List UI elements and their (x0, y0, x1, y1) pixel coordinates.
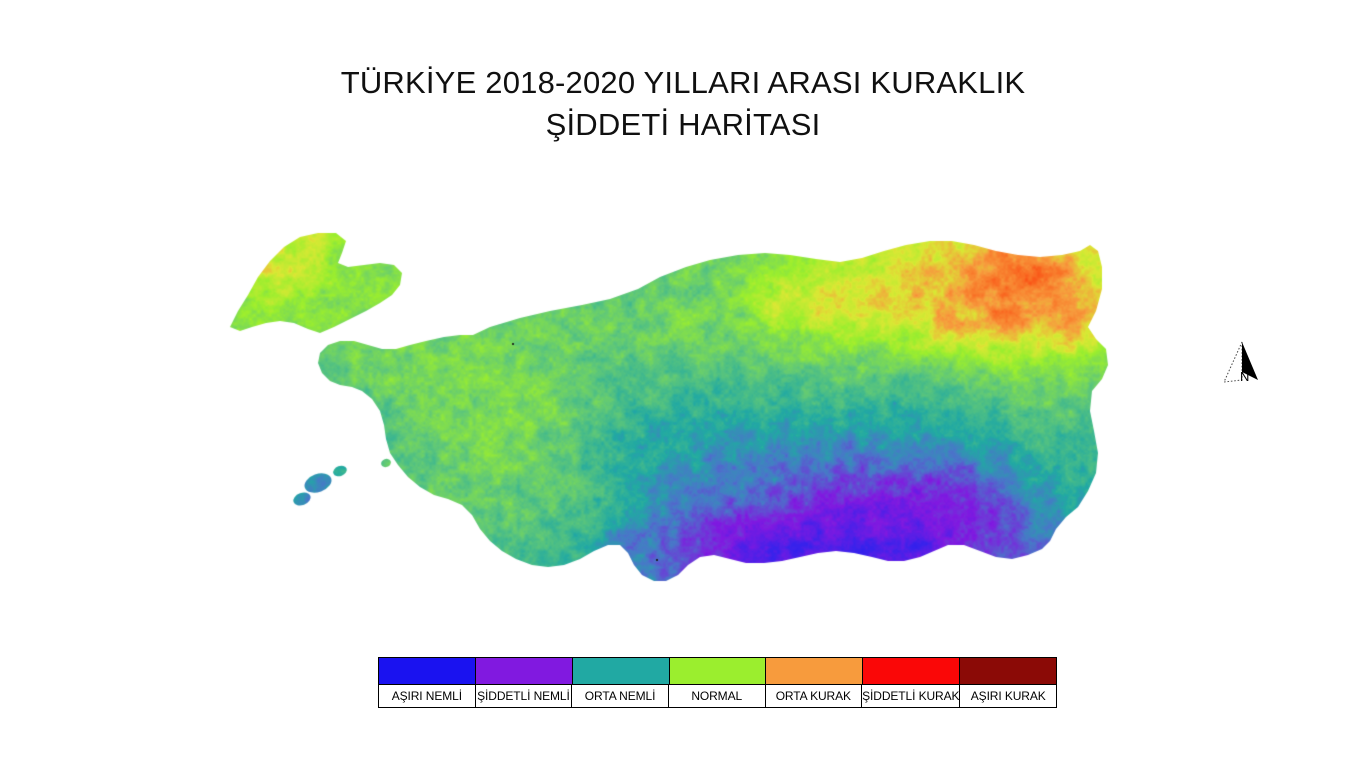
legend-swatch-row (379, 658, 1056, 685)
legend-label-0: AŞIRI NEMLİ (379, 685, 476, 707)
north-arrow-label: N (1240, 370, 1249, 383)
legend-label-row: AŞIRI NEMLİŞİDDETLİ NEMLİORTA NEMLİNORMA… (379, 685, 1056, 707)
north-arrow: N (1218, 334, 1274, 392)
page-title: TÜRKİYE 2018-2020 YILLARI ARASI KURAKLIK… (0, 62, 1366, 146)
legend-swatch-6 (960, 658, 1056, 684)
drought-severity-map (190, 215, 1130, 635)
legend-label-5: ŞİDDETLİ KURAK (862, 685, 960, 707)
legend-label-2: ORTA NEMLİ (572, 685, 669, 707)
legend-swatch-0 (379, 658, 476, 684)
legend-swatch-2 (573, 658, 670, 684)
legend-swatch-3 (670, 658, 767, 684)
legend-label-6: AŞIRI KURAK (960, 685, 1056, 707)
map-raster-canvas (190, 215, 1130, 635)
legend-swatch-5 (863, 658, 960, 684)
legend-swatch-4 (766, 658, 863, 684)
legend: AŞIRI NEMLİŞİDDETLİ NEMLİORTA NEMLİNORMA… (378, 657, 1057, 708)
legend-label-4: ORTA KURAK (766, 685, 863, 707)
legend-label-1: ŞİDDETLİ NEMLİ (476, 685, 573, 707)
legend-label-3: NORMAL (669, 685, 766, 707)
legend-swatch-1 (476, 658, 573, 684)
